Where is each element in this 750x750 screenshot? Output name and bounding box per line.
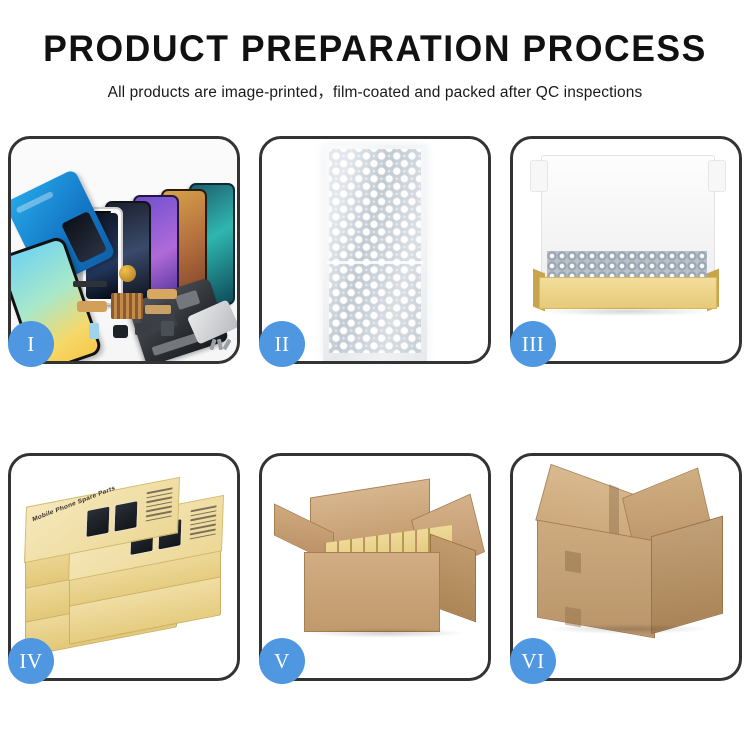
screws-icon — [211, 339, 231, 353]
step-badge-1: I — [8, 321, 54, 367]
bubble-wrapped-contents-icon — [547, 251, 707, 279]
process-step-card-3: III — [510, 136, 742, 364]
box-spec-lines-back — [145, 487, 172, 526]
wrap-gloss-highlight — [323, 145, 427, 361]
box-screen-image-3 — [85, 505, 110, 538]
open-carton-body-icon — [304, 552, 440, 632]
sealed-carton-front-icon — [537, 520, 655, 639]
process-step-card-6: VI — [510, 453, 742, 681]
process-step-card-2: II — [259, 136, 491, 364]
process-step-card-1: I — [8, 136, 240, 364]
box-screen-image-4 — [113, 500, 138, 533]
process-steps-grid: I II III — [8, 136, 742, 681]
process-step-card-5: V — [259, 453, 491, 681]
process-step-card-4: Mobile Phone Spare Parts Mobile Phone Sp… — [8, 453, 240, 681]
page-subtitle: All products are image-printed，film-coat… — [0, 80, 750, 102]
step-badge-5: V — [259, 638, 305, 684]
stacked-boxes-icon: Mobile Phone Spare Parts Mobile Phone Sp… — [17, 472, 235, 668]
spare-parts-icon — [73, 269, 203, 345]
product-preparation-process-page: PRODUCT PREPARATION PROCESS All products… — [0, 0, 750, 750]
step-badge-3: III — [510, 321, 556, 367]
page-header: PRODUCT PREPARATION PROCESS All products… — [0, 0, 750, 102]
kraft-box-front-icon — [539, 277, 717, 309]
carton-tape-patch-top — [565, 551, 581, 574]
box-shadow — [543, 307, 711, 316]
page-title: PRODUCT PREPARATION PROCESS — [15, 30, 735, 67]
carton-shadow — [306, 628, 466, 638]
sealed-carton-shadow — [547, 624, 711, 634]
step-badge-2: II — [259, 321, 305, 367]
sealed-carton-right-icon — [651, 516, 723, 635]
box-spec-lines-front — [189, 505, 216, 544]
step-badge-4: IV — [8, 638, 54, 684]
step-badge-6: VI — [510, 638, 556, 684]
